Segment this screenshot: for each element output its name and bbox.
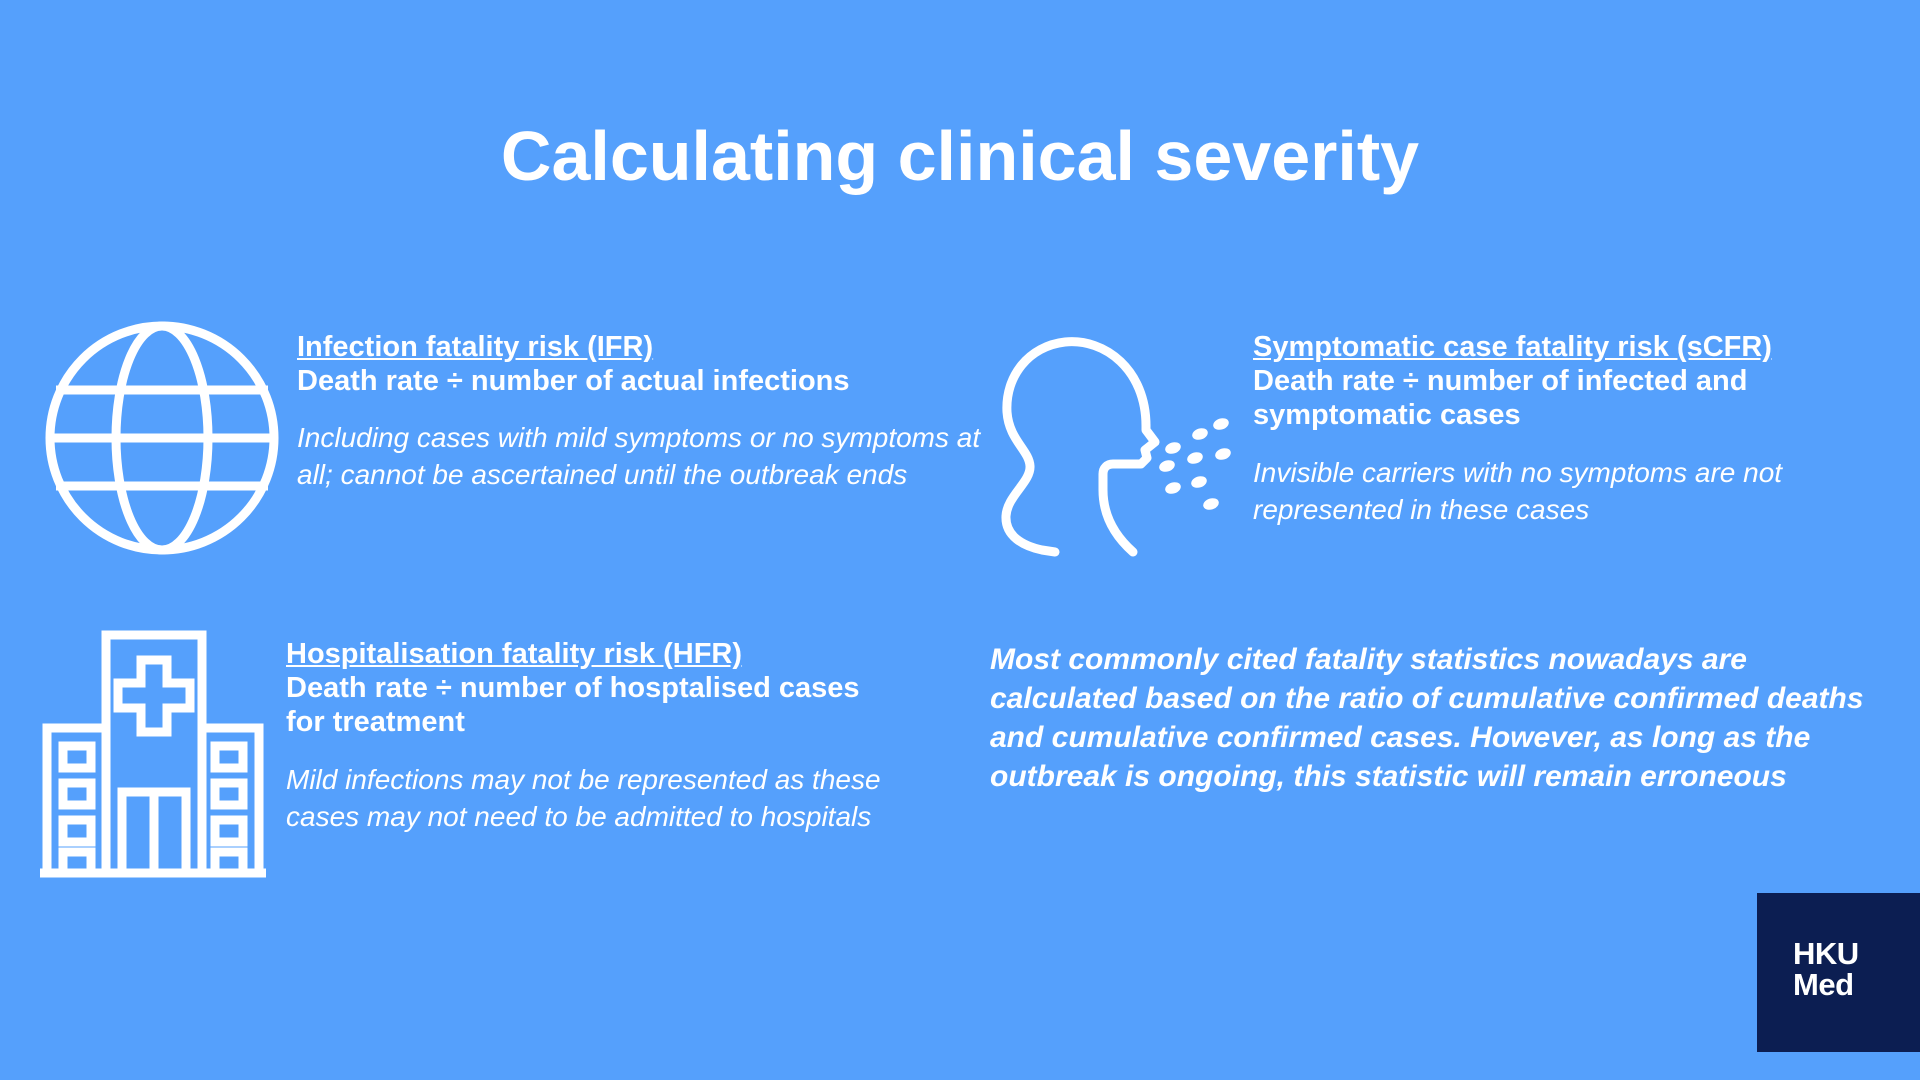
- slide-canvas: Calculating clinical severity Infection …: [0, 0, 1920, 1080]
- scfr-heading: Symptomatic case fatality risk (sCFR): [1253, 330, 1893, 364]
- ifr-panel: Infection fatality risk (IFR) Death rate…: [297, 330, 997, 494]
- ifr-heading: Infection fatality risk (IFR): [297, 330, 997, 364]
- summary-paragraph: Most commonly cited fatality statistics …: [990, 640, 1880, 796]
- hfr-formula: Death rate ÷ number of hosptalised cases…: [286, 671, 906, 739]
- hfr-heading: Hospitalisation fatality risk (HFR): [286, 637, 906, 671]
- page-title: Calculating clinical severity: [0, 120, 1920, 194]
- logo-line-1: HKU: [1793, 938, 1859, 969]
- scfr-note: Invisible carriers with no symptoms are …: [1253, 455, 1893, 529]
- coughing-head-icon: [995, 330, 1240, 560]
- hfr-panel: Hospitalisation fatality risk (HFR) Deat…: [286, 637, 906, 836]
- ifr-formula: Death rate ÷ number of actual infections: [297, 364, 997, 398]
- hku-med-logo: HKU Med: [1757, 893, 1920, 1052]
- hku-med-logo-text: HKU Med: [1793, 938, 1859, 1000]
- scfr-formula: Death rate ÷ number of infected and symp…: [1253, 364, 1893, 432]
- ifr-note: Including cases with mild symptoms or no…: [297, 420, 997, 494]
- globe-icon: [42, 318, 282, 558]
- hfr-note: Mild infections may not be represented a…: [286, 762, 906, 836]
- hospital-icon: [38, 628, 268, 880]
- logo-line-2: Med: [1793, 969, 1859, 1000]
- scfr-panel: Symptomatic case fatality risk (sCFR) De…: [1253, 330, 1893, 529]
